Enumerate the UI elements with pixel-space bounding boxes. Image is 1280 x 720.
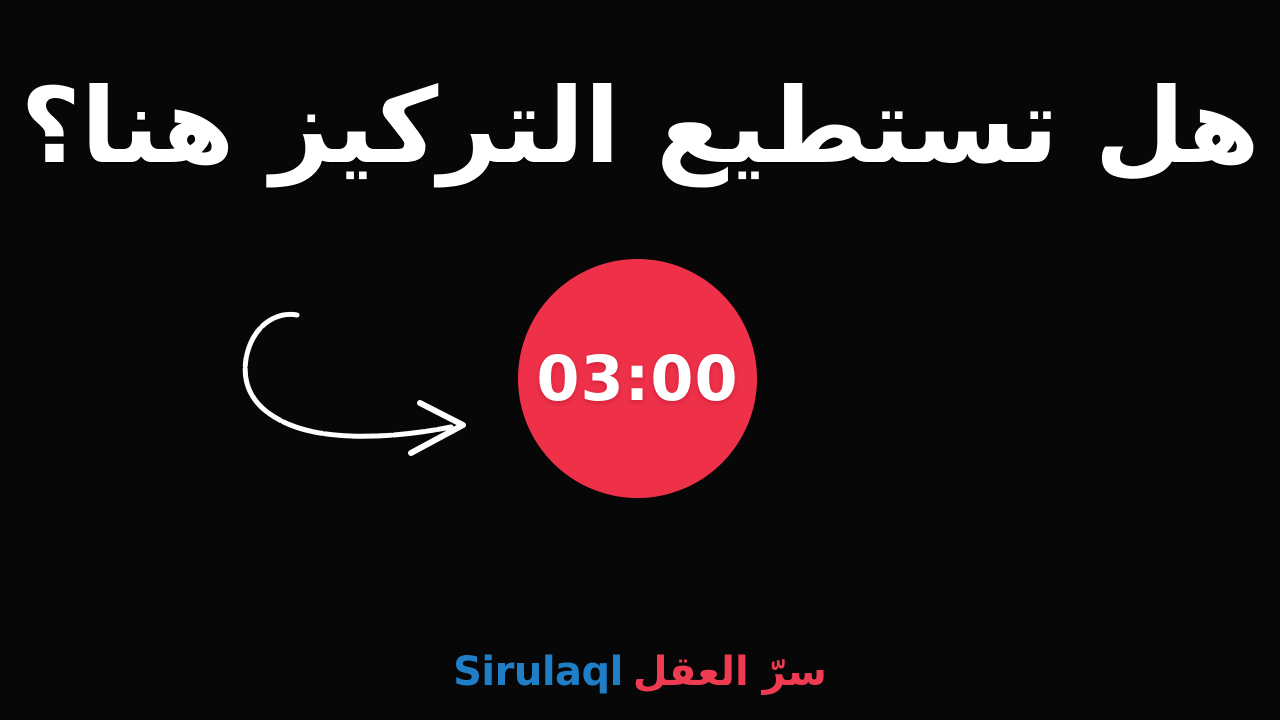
countdown-timer[interactable]: 03:00 bbox=[518, 259, 757, 498]
brand-name-latin: Sirulaql bbox=[453, 652, 623, 692]
video-frame: هل تستطيع التركيز هنا؟ 03:00 Sirulaql سر… bbox=[0, 0, 1280, 720]
brand-name-arabic: سرّ العقل bbox=[633, 652, 827, 692]
brand-watermark: Sirulaql سرّ العقل bbox=[0, 652, 1280, 692]
timer-value: 03:00 bbox=[536, 348, 738, 410]
curved-hand-drawn-arrow bbox=[215, 285, 495, 475]
page-title: هل تستطيع التركيز هنا؟ bbox=[0, 58, 1280, 195]
